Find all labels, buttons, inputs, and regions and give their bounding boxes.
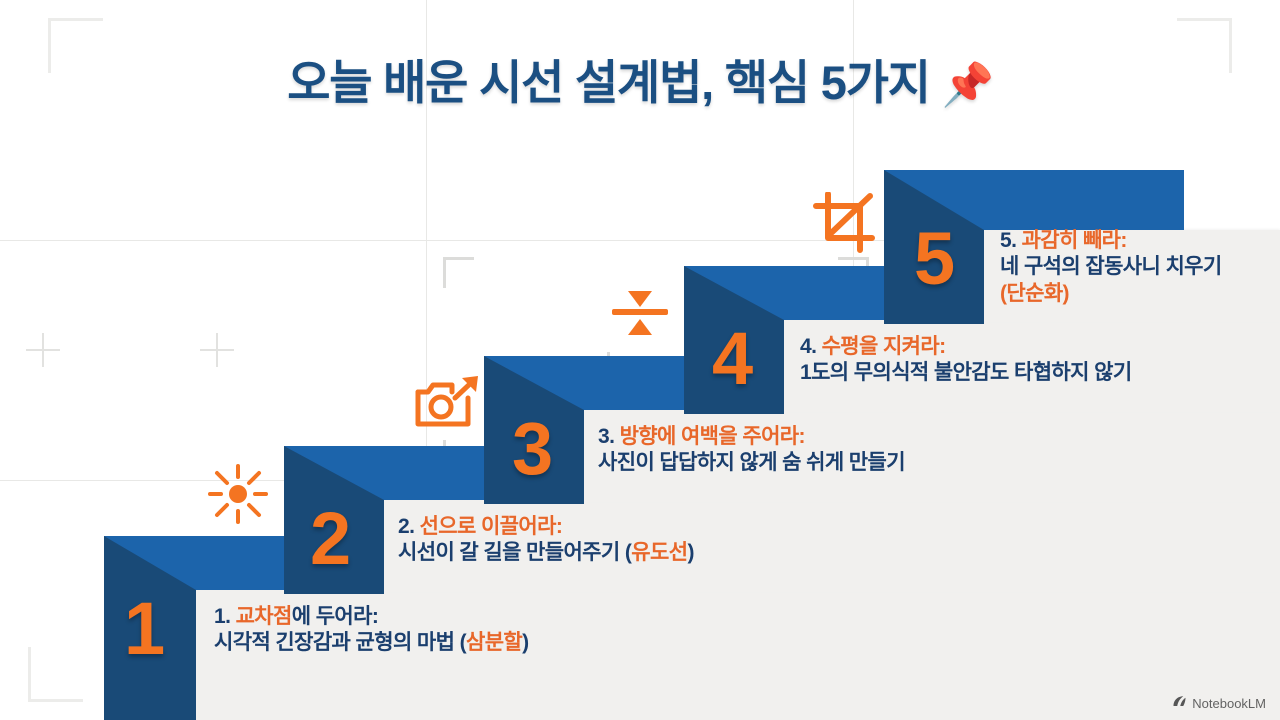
step-text-4: 4. 수평을 지켜라: 1도의 무의식적 불안감도 타협하지 않기	[800, 334, 1132, 387]
step-number-2: 2	[310, 502, 351, 576]
step-2-line-2: 시선이 갈 길을 만들어주기 (유도선)	[398, 540, 694, 566]
step-text-3: 3. 방향에 여백을 주어라: 사진이 답답하지 않게 숨 쉬게 만들기	[598, 424, 905, 477]
step-number-3: 3	[512, 412, 553, 486]
step-number-5: 5	[914, 222, 955, 296]
step-5-line-1: 5. 과감히 빼라:	[1000, 228, 1222, 254]
step-text-2: 2. 선으로 이끌어라: 시선이 갈 길을 만들어주기 (유도선)	[398, 514, 694, 567]
step-1-line-1: 1. 교차점에 두어라:	[214, 604, 529, 630]
step-number-4: 4	[712, 322, 753, 396]
notebooklm-logo-icon	[1172, 694, 1187, 712]
sun-icon	[206, 462, 270, 531]
step-3-line-2: 사진이 답답하지 않게 숨 쉬게 만들기	[598, 450, 905, 476]
step-1-line-2: 시각적 긴장감과 균형의 마법 (삼분할)	[214, 630, 529, 656]
staircase-diagram: 1 1. 교차점에 두어라: 시각적 긴장감과 균형의 마법 (삼분할) 2 2…	[0, 0, 1280, 720]
step-text-1: 1. 교차점에 두어라: 시각적 긴장감과 균형의 마법 (삼분할)	[214, 604, 529, 657]
step-number-1: 1	[124, 592, 165, 666]
notebooklm-watermark: NotebookLM	[1172, 694, 1266, 712]
step-text-5: 5. 과감히 빼라: 네 구석의 잡동사니 치우기 (단순화)	[1000, 228, 1222, 307]
notebooklm-label: NotebookLM	[1192, 696, 1266, 711]
step-5-line-3: (단순화)	[1000, 281, 1222, 307]
horizon-align-icon	[608, 285, 672, 346]
step-5-line-2: 네 구석의 잡동사니 치우기	[1000, 254, 1222, 280]
camera-arrow-icon	[412, 372, 480, 439]
infographic-canvas: 오늘 배운 시선 설계법, 핵심 5가지 📌 1 1. 교차점에 두어라: 시각…	[0, 0, 1280, 720]
crop-icon	[812, 192, 878, 259]
step-2-line-1: 2. 선으로 이끌어라:	[398, 514, 694, 540]
step-4-line-1: 4. 수평을 지켜라:	[800, 334, 1132, 360]
step-3-line-1: 3. 방향에 여백을 주어라:	[598, 424, 905, 450]
step-4-line-2: 1도의 무의식적 불안감도 타협하지 않기	[800, 360, 1132, 386]
